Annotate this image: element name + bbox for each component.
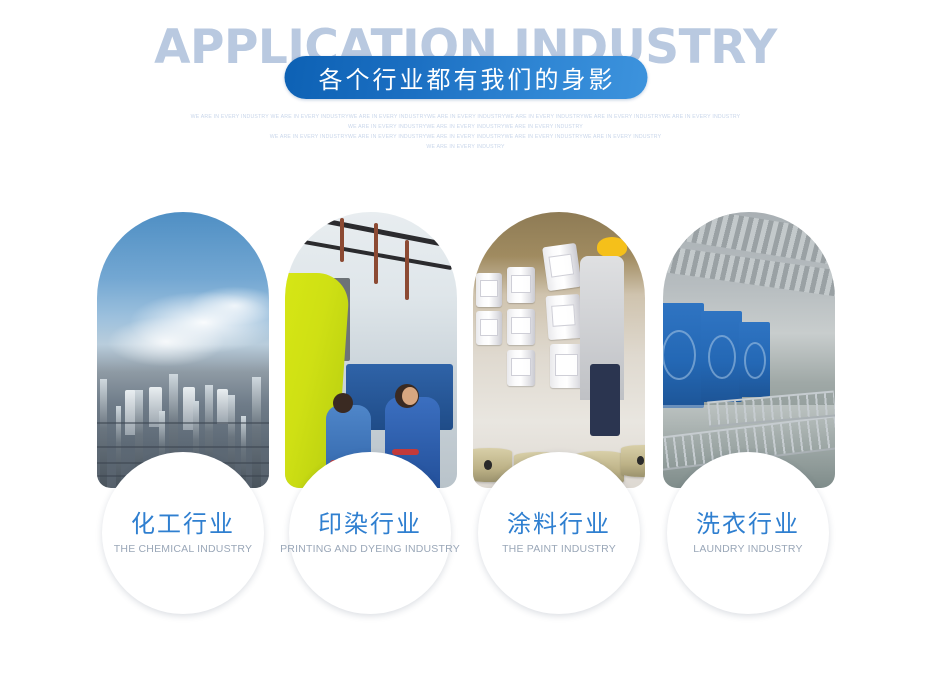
washing-machine (701, 311, 742, 402)
industry-card-paint[interactable] (473, 212, 645, 488)
industry-badge-title-cn: 涂料行业 (507, 512, 611, 536)
industry-badge-chemical[interactable]: 化工行业 THE CHEMICAL INDUSTRY (102, 452, 264, 614)
industry-card-printing-dyeing[interactable] (285, 212, 457, 488)
industry-card-chemical[interactable] (97, 212, 269, 488)
industry-badge-paint[interactable]: 涂料行业 THE PAINT INDUSTRY (478, 452, 640, 614)
washing-machine (739, 322, 770, 397)
industry-badge-title-cn: 印染行业 (318, 512, 422, 536)
worker-hard-hat (597, 237, 627, 257)
paint-worker-trousers (590, 364, 620, 436)
industry-badge-title-en: LAUNDRY INDUSTRY (693, 544, 802, 555)
industry-badge-printing-dyeing[interactable]: 印染行业 PRINTING AND DYEING INDUSTRY (289, 452, 451, 614)
industry-card-grid: 化工行业 THE CHEMICAL INDUSTRY 印染行业 PRINTING… (0, 0, 931, 676)
laundry-facility-photo (663, 212, 835, 488)
chemical-plant-photo (97, 212, 269, 488)
industry-badge-title-en: THE CHEMICAL INDUSTRY (114, 544, 252, 555)
washing-machine (663, 303, 704, 408)
dyeing-factory-photo (285, 212, 457, 488)
industry-badge-title-cn: 洗衣行业 (696, 512, 800, 536)
industry-badge-title-en: PRINTING AND DYEING INDUSTRY (280, 544, 460, 555)
paint-warehouse-photo (473, 212, 645, 488)
industry-badge-title-cn: 化工行业 (131, 512, 235, 536)
industry-card-laundry[interactable] (663, 212, 835, 488)
industry-badge-laundry[interactable]: 洗衣行业 LAUNDRY INDUSTRY (667, 452, 829, 614)
industry-badge-title-en: THE PAINT INDUSTRY (502, 544, 616, 555)
